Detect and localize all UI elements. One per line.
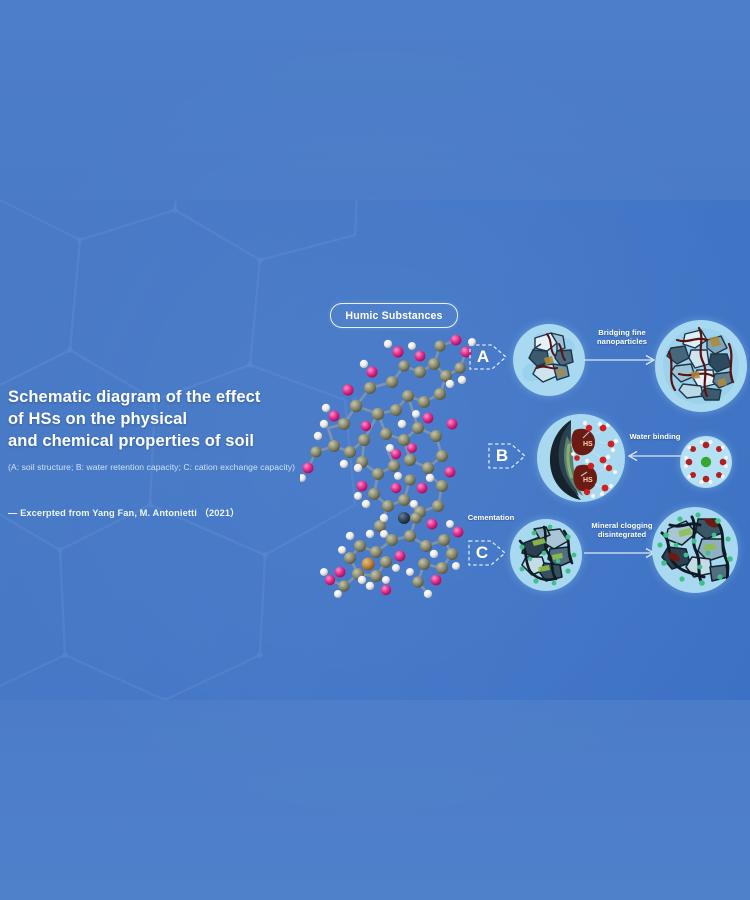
panel-a-arrow-label-line-1: Bridging fine [582, 328, 662, 337]
arrow-left-icon [625, 448, 685, 464]
panel-a-soil-structure: A [465, 320, 750, 415]
cemented-aggregate-icon [510, 519, 582, 591]
panel-b-marker: B [487, 436, 529, 476]
panel-c-arrow-label: Mineral clogging disintegrated [582, 521, 662, 561]
title-line-2: of HSs on the physical [8, 408, 338, 430]
title-line-3: and chemical properties of soil [8, 430, 338, 452]
disintegrated-aggregate-icon [652, 507, 738, 593]
svg-text:HS: HS [583, 477, 593, 484]
soil-aggregate-bridged-icon [655, 320, 747, 412]
panel-a-letter: A [468, 337, 498, 377]
arrow-right-icon [582, 352, 662, 368]
panel-b-letter: B [487, 436, 517, 476]
figure-caption-block: Schematic diagram of the effect of HSs o… [8, 386, 338, 473]
source-credit: — Excerpted from Yang Fan, M. Antonietti… [8, 505, 239, 519]
background-band-top [0, 0, 750, 200]
panel-c-letter: C [467, 533, 497, 573]
panel-b-arrow-label-line-1: Water binding [625, 432, 685, 441]
figure-canvas: Schematic diagram of the effect of HSs o… [0, 0, 750, 900]
humic-water-retention-circle: HS HS [537, 414, 625, 502]
hydrated-cation-circle [680, 436, 732, 488]
hydrated-cation-icon [680, 436, 732, 488]
panel-b-water-retention: B HS HS [465, 410, 750, 510]
soil-aggregate-circle-a-after [655, 320, 747, 412]
disintegrated-aggregate-circle [652, 507, 738, 593]
page-subtitle: (A: soil structure; B: water retention c… [8, 461, 338, 473]
title-line-1: Schematic diagram of the effect [8, 386, 338, 408]
panel-a-arrow-label-line-2: nanoparticles [582, 337, 662, 346]
page-title: Schematic diagram of the effect of HSs o… [8, 386, 338, 452]
soil-aggregate-circle-a-before [513, 324, 585, 396]
cemented-aggregate-circle [510, 519, 582, 591]
panel-c-pre-label: Cementation [460, 513, 522, 522]
panel-b-arrow-label: Water binding [625, 432, 685, 464]
soil-aggregate-icon [513, 324, 585, 396]
humic-substance-molecule-icon [300, 328, 480, 606]
panel-c-cation-exchange: Cementation C [462, 505, 750, 600]
panel-c-marker: C [467, 533, 509, 573]
svg-text:HS: HS [583, 441, 593, 448]
background-band-bottom [0, 700, 750, 900]
humic-coated-mineral-icon: HS HS [537, 414, 625, 502]
panel-c-arrow-label-line-2: disintegrated [582, 530, 662, 539]
humic-substances-badge: Humic Substances [330, 303, 458, 328]
panel-a-arrow-label: Bridging fine nanoparticles [582, 328, 662, 368]
panel-a-marker: A [468, 337, 510, 377]
arrow-right-icon [582, 545, 662, 561]
panel-c-arrow-label-line-1: Mineral clogging [582, 521, 662, 530]
